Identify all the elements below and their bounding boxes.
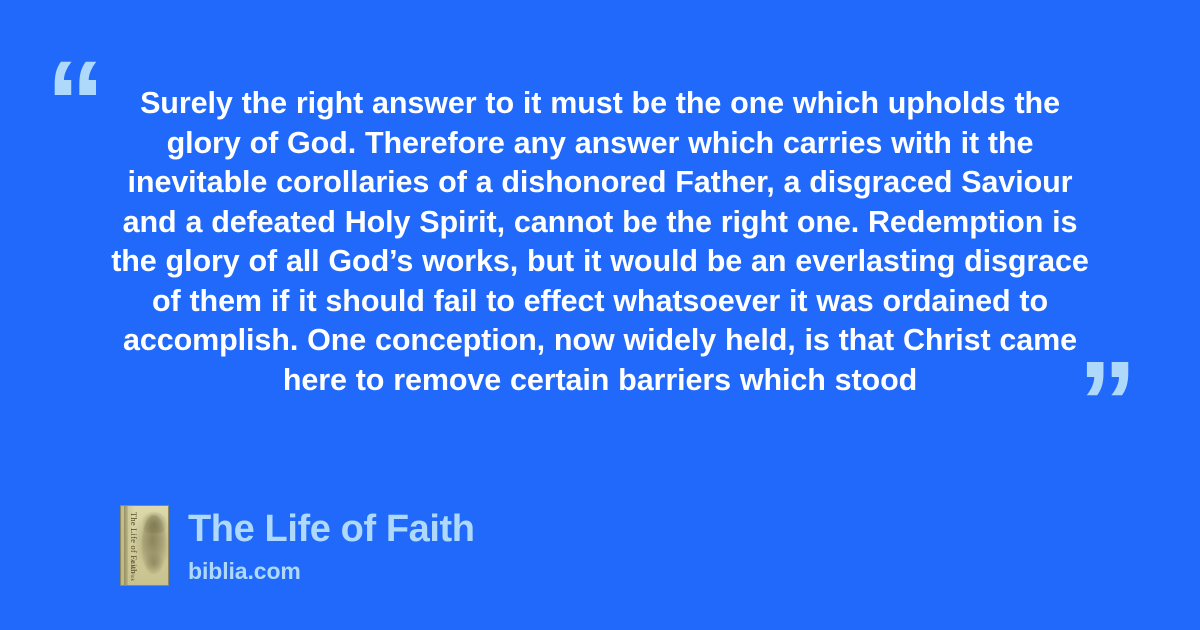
portrait-hair-icon	[143, 512, 167, 533]
book-cover-thumbnail[interactable]: The Life of Faith A. W. Pink	[120, 505, 169, 586]
book-cover-spine	[124, 506, 128, 585]
footer-attribution[interactable]: The Life of Faith A. W. Pink The Life of…	[120, 505, 475, 586]
quote-card: “ Surely the right answer to it must be …	[0, 0, 1200, 630]
quote-block: “ Surely the right answer to it must be …	[0, 44, 1200, 414]
open-quote-mark: “	[46, 44, 103, 162]
book-title[interactable]: The Life of Faith	[188, 507, 475, 551]
quote-text: Surely the right answer to it must be th…	[100, 84, 1100, 400]
book-cover-author: A. W. Pink	[129, 559, 134, 581]
footer-text-group: The Life of Faith biblia.com	[188, 505, 475, 585]
close-quote-mark: ”	[1078, 344, 1135, 462]
site-name[interactable]: biblia.com	[188, 557, 475, 585]
